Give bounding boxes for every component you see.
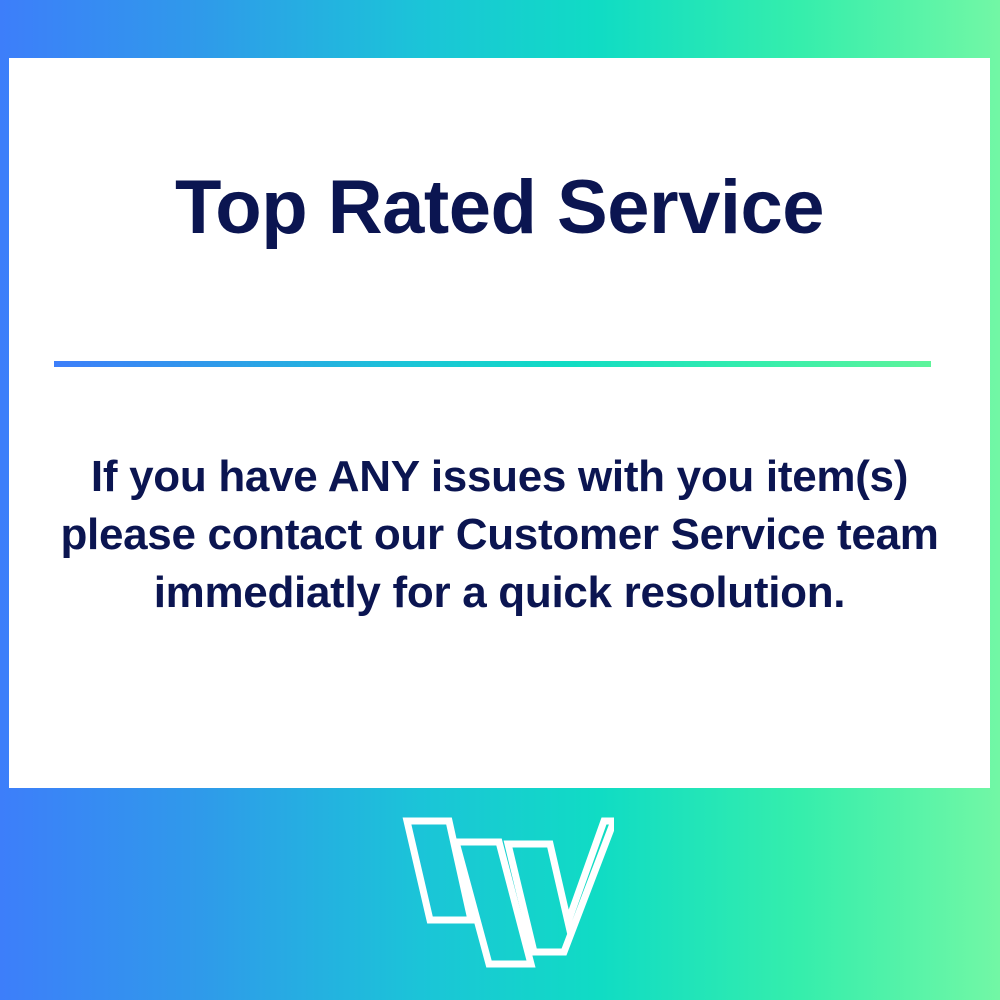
message-block: If you have ANY issues with you item(s) … <box>37 448 962 622</box>
w-monogram-logo <box>386 812 614 970</box>
page-title: Top Rated Service <box>9 170 990 246</box>
message-line-1: If you have ANY issues with you item(s) <box>37 448 962 506</box>
w-monogram-icon <box>386 812 614 970</box>
message-line-2: please contact our Customer Service team <box>37 506 962 564</box>
promo-banner: Top Rated Service If you have ANY issues… <box>0 0 1000 1000</box>
content-card: Top Rated Service If you have ANY issues… <box>9 58 990 788</box>
card-inner: Top Rated Service If you have ANY issues… <box>9 58 990 788</box>
gradient-divider <box>54 361 931 367</box>
message-line-3: immediatly for a quick resolution. <box>37 564 962 622</box>
